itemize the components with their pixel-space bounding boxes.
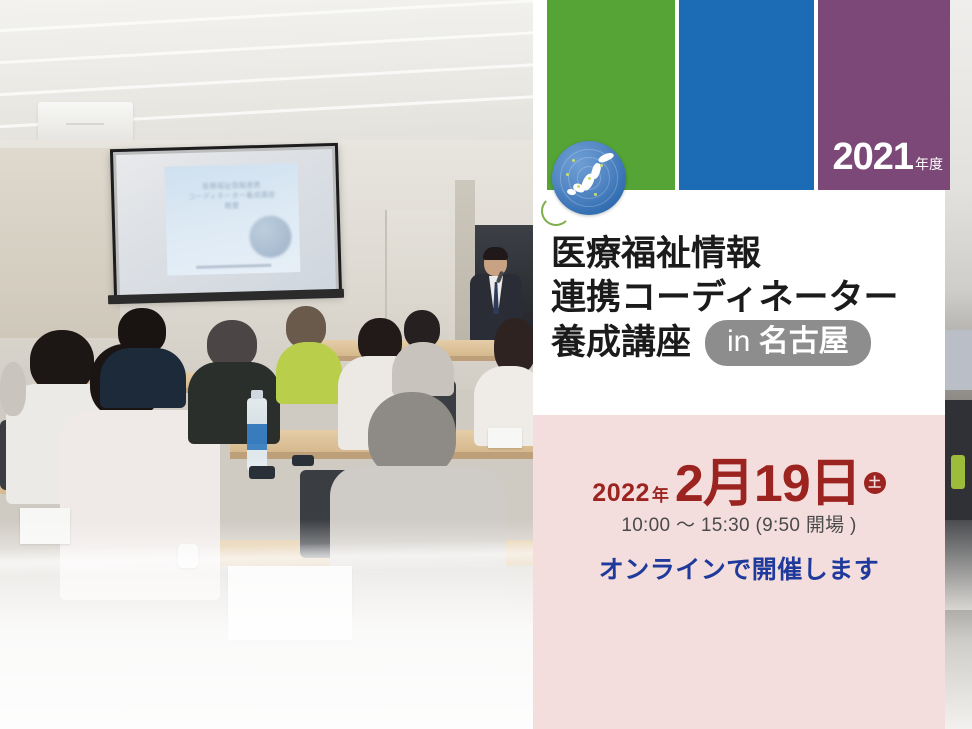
year-number: 2021: [832, 136, 913, 178]
location-badge-prefix: in: [727, 325, 750, 358]
slide-title: 医療福祉情報連携 コーディネーター養成講座 概要: [172, 180, 291, 213]
screen-surface: 医療福祉情報連携 コーディネーター養成講座 概要: [116, 149, 336, 295]
date-day-of-week: 土: [864, 472, 886, 494]
info-panel: 2021年度 医療福祉情報 連携コーディネーター 養成講座: [533, 0, 972, 729]
smartphone: [292, 455, 314, 466]
slide-footer: [196, 264, 271, 269]
side-wall: [0, 148, 120, 338]
online-notice: オンラインで開催します: [533, 550, 945, 586]
year-badge: 2021年度: [818, 138, 950, 176]
handout-paper: [488, 428, 522, 448]
event-time: 10:00 〜 15:30 (9:50 開場 ): [533, 510, 945, 537]
water-bottle: [247, 398, 267, 472]
slide-line-3: 概要: [225, 203, 240, 210]
location-badge-city: 名古屋: [759, 325, 849, 358]
bottle-cap: [251, 390, 263, 399]
strip-region: [945, 520, 972, 610]
title-line-3: 養成講座: [551, 321, 691, 365]
slide-line-2: コーディネーター養成講座: [188, 192, 275, 201]
photo-bottom-fade: [0, 519, 533, 729]
seminar-poster: 医療福祉情報連携 コーディネーター養成講座 概要: [0, 0, 972, 729]
slide-content: 医療福祉情報連携 コーディネーター養成講座 概要: [164, 163, 301, 276]
event-details-band: 2022年2月19日土 10:00 〜 15:30 (9:50 開場 ) オンラ…: [533, 415, 945, 729]
air-conditioner: [38, 102, 133, 142]
projector-screen: 医療福祉情報連携 コーディネーター養成講座 概要: [110, 143, 342, 301]
year-suffix: 年度: [915, 156, 943, 172]
event-date: 2022年2月19日土: [533, 441, 945, 516]
poster-title: 医療福祉情報 連携コーディネーター 養成講座 in 名古屋: [551, 232, 951, 366]
speaker-hair: [483, 247, 508, 260]
bottle-label: [247, 424, 267, 450]
title-line-2: 連携コーディネーター: [551, 276, 951, 320]
date-month-day: 2月19日: [675, 455, 861, 513]
date-year-unit: 年: [652, 486, 669, 505]
location-badge: in 名古屋: [705, 320, 871, 366]
smartphone: [249, 466, 275, 479]
date-year: 2022: [592, 479, 650, 507]
blue-block: [679, 0, 814, 190]
strip-region: [951, 455, 965, 489]
title-line-1: 医療福祉情報: [551, 232, 951, 276]
slide-line-1: 医療福祉情報連携: [202, 182, 261, 191]
globe-orbit-arc: [541, 196, 571, 226]
title-line-3-row: 養成講座 in 名古屋: [551, 320, 951, 366]
slide-globe-icon: [249, 215, 292, 258]
seminar-photo: 医療福祉情報連携 コーディネーター養成講座 概要: [0, 0, 533, 729]
